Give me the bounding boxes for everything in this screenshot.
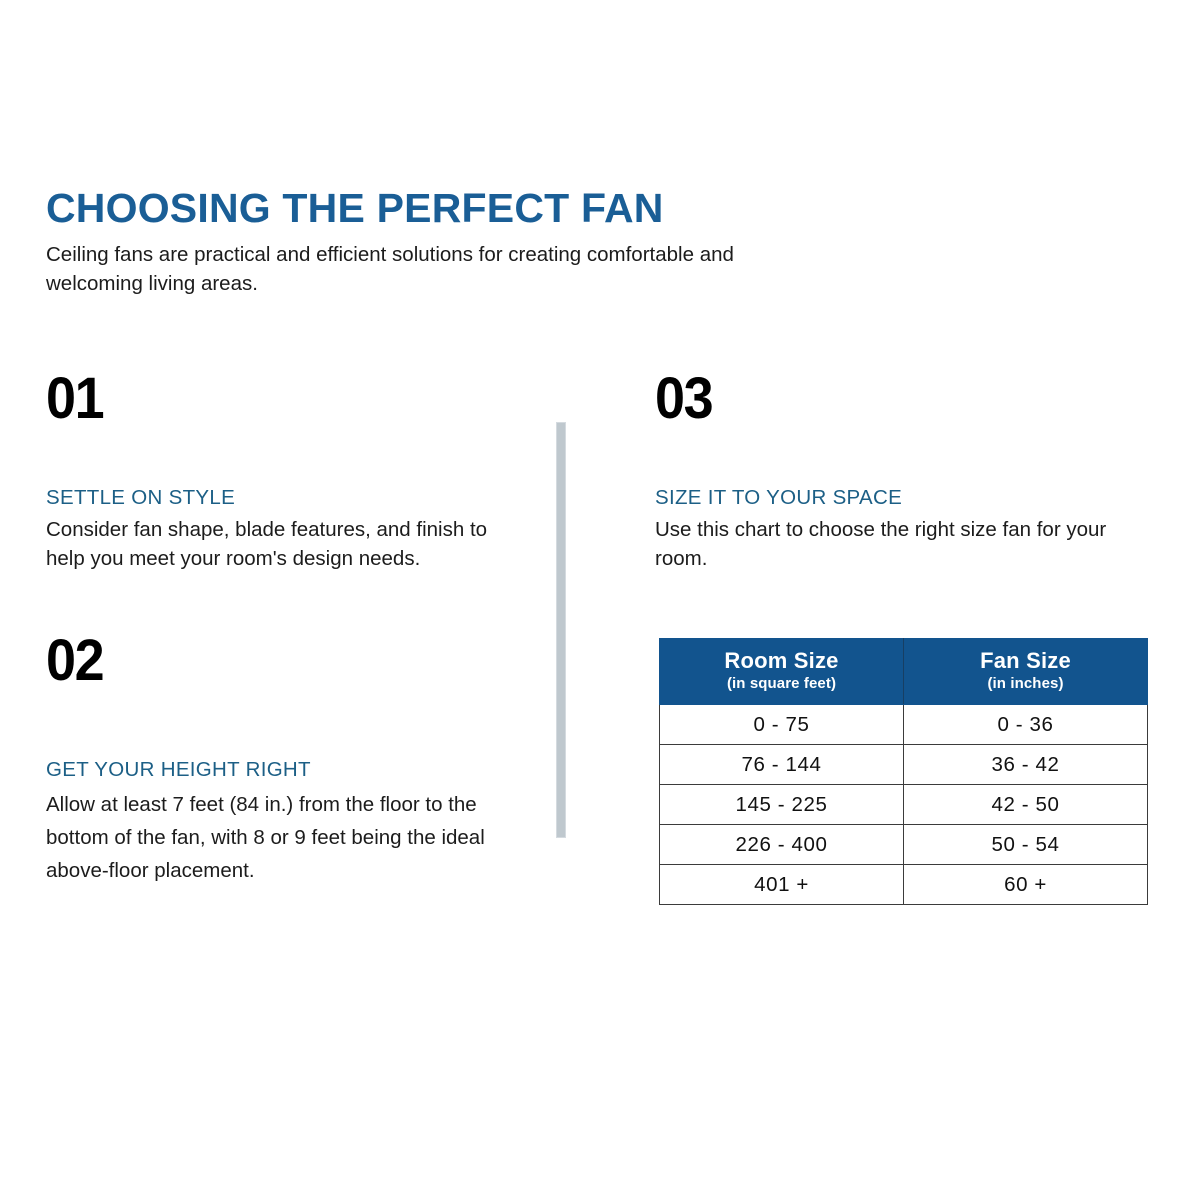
column-header-fan-size-sub: (in inches) <box>908 675 1143 693</box>
step-body-02: Allow at least 7 feet (84 in.) from the … <box>46 788 516 888</box>
column-header-fan-size: Fan Size (in inches) <box>904 639 1148 705</box>
cell-room-size: 401 + <box>660 864 904 904</box>
size-table: Room Size (in square feet) Fan Size (in … <box>659 638 1148 905</box>
step-block-02: 02 GET YOUR HEIGHT RIGHT Allow at least … <box>46 632 516 887</box>
table-row: 226 - 400 50 - 54 <box>660 824 1148 864</box>
cell-fan-size: 60 + <box>904 864 1148 904</box>
step-number-02: 02 <box>46 632 483 690</box>
step-number-01: 01 <box>46 370 483 428</box>
size-table-head: Room Size (in square feet) Fan Size (in … <box>660 639 1148 705</box>
cell-fan-size: 50 - 54 <box>904 824 1148 864</box>
cell-fan-size: 0 - 36 <box>904 704 1148 744</box>
column-header-room-size: Room Size (in square feet) <box>660 639 904 705</box>
table-row: 0 - 75 0 - 36 <box>660 704 1148 744</box>
step-body-03: Use this chart to choose the right size … <box>655 515 1155 574</box>
step-heading-03: SIZE IT TO YOUR SPACE <box>655 486 1155 511</box>
table-row: 145 - 225 42 - 50 <box>660 784 1148 824</box>
size-table-body: 0 - 75 0 - 36 76 - 144 36 - 42 145 - 225… <box>660 704 1148 904</box>
size-chart: Room Size (in square feet) Fan Size (in … <box>659 638 1148 905</box>
step-heading-02: GET YOUR HEIGHT RIGHT <box>46 758 516 783</box>
header-block: CHOOSING THE PERFECT FAN Ceiling fans ar… <box>46 186 846 298</box>
cell-fan-size: 42 - 50 <box>904 784 1148 824</box>
cell-fan-size: 36 - 42 <box>904 744 1148 784</box>
step-block-03: 03 SIZE IT TO YOUR SPACE Use this chart … <box>655 370 1155 574</box>
table-row: 401 + 60 + <box>660 864 1148 904</box>
page-subtitle: Ceiling fans are practical and efficient… <box>46 240 816 298</box>
step-body-01: Consider fan shape, blade features, and … <box>46 515 516 574</box>
page-title: CHOOSING THE PERFECT FAN <box>46 186 846 230</box>
table-row: 76 - 144 36 - 42 <box>660 744 1148 784</box>
cell-room-size: 145 - 225 <box>660 784 904 824</box>
left-column: 01 SETTLE ON STYLE Consider fan shape, b… <box>46 370 516 887</box>
cell-room-size: 76 - 144 <box>660 744 904 784</box>
cell-room-size: 226 - 400 <box>660 824 904 864</box>
right-column: 03 SIZE IT TO YOUR SPACE Use this chart … <box>655 370 1155 574</box>
size-table-header-row: Room Size (in square feet) Fan Size (in … <box>660 639 1148 705</box>
step-number-03: 03 <box>655 370 1120 428</box>
step-heading-01: SETTLE ON STYLE <box>46 486 516 511</box>
step-block-01: 01 SETTLE ON STYLE Consider fan shape, b… <box>46 370 516 574</box>
column-divider <box>556 422 566 838</box>
cell-room-size: 0 - 75 <box>660 704 904 744</box>
column-header-room-size-main: Room Size <box>664 649 899 674</box>
column-header-fan-size-main: Fan Size <box>908 649 1143 674</box>
column-header-room-size-sub: (in square feet) <box>664 675 899 693</box>
